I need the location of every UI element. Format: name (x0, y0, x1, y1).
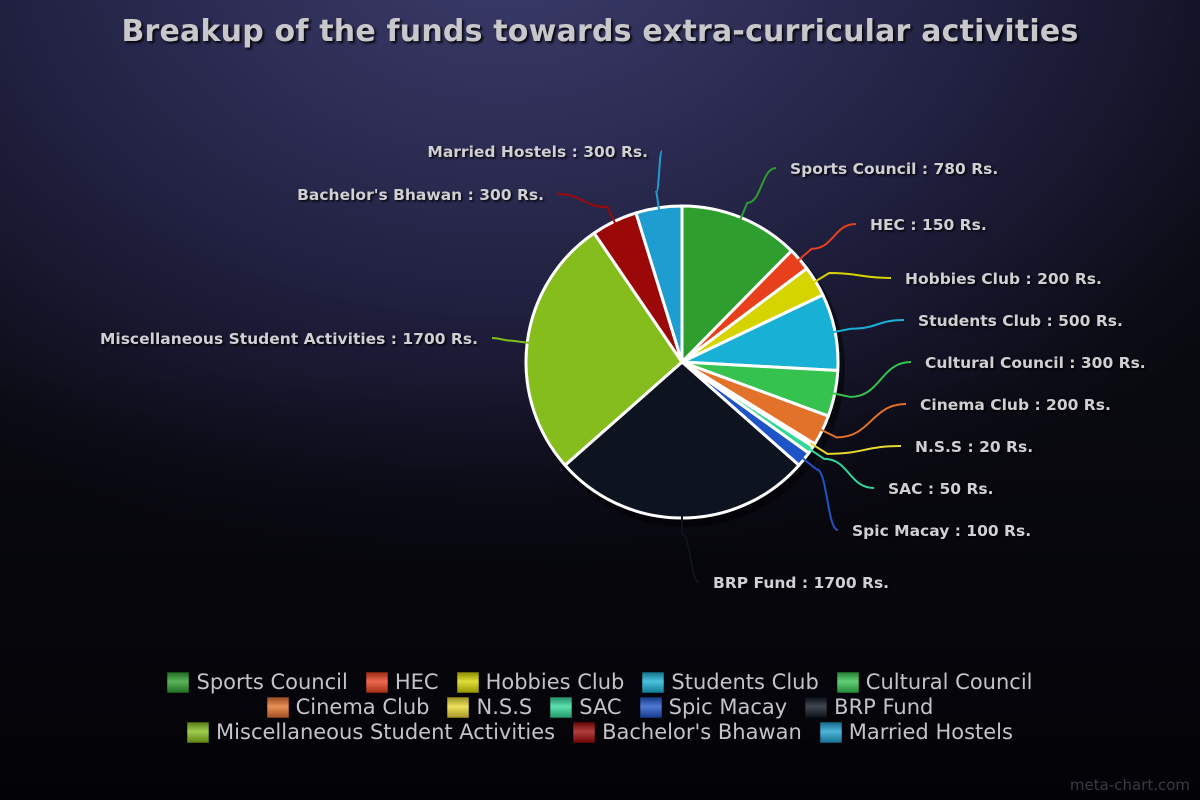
legend-label: Bachelor's Bhawan (602, 722, 802, 743)
legend-swatch-icon (805, 697, 827, 718)
legend-item-bachelor-s-bhawan[interactable]: Bachelor's Bhawan (573, 722, 802, 743)
legend-item-sac[interactable]: SAC (550, 697, 621, 718)
legend-row: Cinema ClubN.S.SSACSpic MacayBRP Fund (258, 697, 943, 718)
legend-label: Spic Macay (669, 697, 788, 718)
slice-label-sports-council: Sports Council : 780 Rs. (790, 160, 998, 178)
slice-label-bachelors-bhawan: Bachelor's Bhawan : 300 Rs. (297, 186, 544, 204)
legend-item-hobbies-club[interactable]: Hobbies Club (457, 672, 625, 693)
legend-label: Students Club (671, 672, 818, 693)
slice-label-married-hostels: Married Hostels : 300 Rs. (427, 143, 648, 161)
legend-swatch-icon (366, 672, 388, 693)
legend-swatch-icon (642, 672, 664, 693)
legend-swatch-icon (573, 722, 595, 743)
leader-line (740, 168, 776, 221)
legend-item-students-club[interactable]: Students Club (642, 672, 818, 693)
legend-row: Miscellaneous Student ActivitiesBachelor… (178, 722, 1022, 743)
leader-line (796, 224, 856, 262)
legend-row: Sports CouncilHECHobbies ClubStudents Cl… (158, 672, 1041, 693)
chart-title: Breakup of the funds towards extra-curri… (0, 14, 1200, 49)
legend-item-cinema-club[interactable]: Cinema Club (267, 697, 430, 718)
legend-item-brp-fund[interactable]: BRP Fund (805, 697, 933, 718)
legend-label: BRP Fund (834, 697, 933, 718)
legend-swatch-icon (267, 697, 289, 718)
legend-item-sports-council[interactable]: Sports Council (167, 672, 347, 693)
slice-label-misc-student: Miscellaneous Student Activities : 1700 … (100, 330, 478, 348)
legend-label: Cinema Club (296, 697, 430, 718)
legend-item-married-hostels[interactable]: Married Hostels (820, 722, 1013, 743)
chart-legend: Sports CouncilHECHobbies ClubStudents Cl… (0, 672, 1200, 743)
legend-swatch-icon (167, 672, 189, 693)
chart-canvas: Breakup of the funds towards extra-curri… (0, 0, 1200, 800)
legend-swatch-icon (550, 697, 572, 718)
slice-label-sac: SAC : 50 Rs. (888, 480, 994, 498)
slice-label-spic-macay: Spic Macay : 100 Rs. (852, 522, 1031, 540)
legend-item-spic-macay[interactable]: Spic Macay (640, 697, 788, 718)
legend-swatch-icon (457, 672, 479, 693)
leader-line (656, 151, 662, 212)
legend-label: HEC (395, 672, 439, 693)
legend-item-hec[interactable]: HEC (366, 672, 439, 693)
slice-label-cultural-council: Cultural Council : 300 Rs. (925, 354, 1146, 372)
slice-label-cinema-club: Cinema Club : 200 Rs. (920, 396, 1111, 414)
legend-label: SAC (579, 697, 621, 718)
leader-line (492, 338, 531, 343)
watermark: meta-chart.com (1070, 776, 1190, 794)
legend-label: Married Hostels (849, 722, 1013, 743)
legend-label: Miscellaneous Student Activities (216, 722, 555, 743)
slice-label-students-club: Students Club : 500 Rs. (918, 312, 1123, 330)
slice-label-brp-fund: BRP Fund : 1700 Rs. (713, 574, 889, 592)
leader-line (812, 273, 891, 283)
slice-label-hobbies-club: Hobbies Club : 200 Rs. (905, 270, 1102, 288)
legend-label: Hobbies Club (486, 672, 625, 693)
legend-swatch-icon (820, 722, 842, 743)
legend-swatch-icon (447, 697, 469, 718)
legend-swatch-icon (837, 672, 859, 693)
legend-item-miscellaneous-student-activities[interactable]: Miscellaneous Student Activities (187, 722, 555, 743)
legend-item-n-s-s[interactable]: N.S.S (447, 697, 532, 718)
leader-line (558, 194, 616, 225)
legend-swatch-icon (640, 697, 662, 718)
slice-label-nss: N.S.S : 20 Rs. (915, 438, 1033, 456)
legend-label: Cultural Council (866, 672, 1033, 693)
legend-label: Sports Council (196, 672, 347, 693)
slice-label-hec: HEC : 150 Rs. (870, 216, 987, 234)
legend-label: N.S.S (476, 697, 532, 718)
leader-line (831, 320, 904, 333)
legend-swatch-icon (187, 722, 209, 743)
legend-item-cultural-council[interactable]: Cultural Council (837, 672, 1033, 693)
